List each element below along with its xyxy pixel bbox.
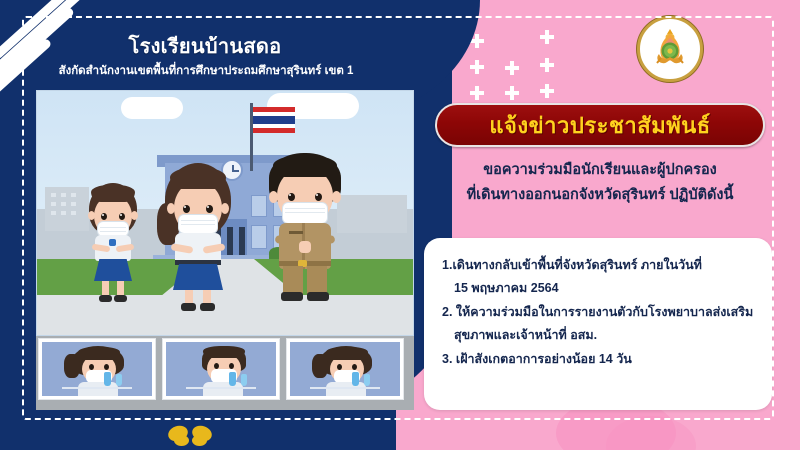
list-item: 1.เดินทางกลับเข้าพื้นที่จังหวัดสุรินทร์ …: [442, 254, 756, 299]
plus-icon: [540, 58, 554, 72]
character-teacher-male: [265, 153, 349, 305]
thumbnail-strip: [36, 336, 414, 410]
list-item: 2. ให้ความร่วมมือในการรายงานตัวกับโรงพยา…: [442, 301, 756, 346]
cloud-icon: [121, 97, 183, 119]
face-mask-icon: [282, 202, 328, 224]
thai-national-flag-icon: [253, 107, 295, 133]
list-item-line2: 15 พฤษภาคม 2564: [442, 277, 756, 300]
thumbnail-handwashing-girl-1[interactable]: [38, 338, 156, 400]
butterfly-icon: [168, 424, 214, 446]
plus-icon: [470, 86, 484, 100]
poster-canvas: โรงเรียนบ้านสดอ สังกัดสำนักงานเขตพื้นที่…: [0, 0, 800, 450]
plus-icon: [470, 60, 484, 74]
announcement-banner: แจ้งข่าวประชาสัมพันธ์: [435, 103, 765, 147]
list-item-number: 2.: [442, 305, 452, 319]
school-illustration: [36, 90, 414, 336]
plus-icon: [505, 61, 519, 75]
school-affiliation-subtitle: สังกัดสำนักงานเขตพื้นที่การศึกษาประถมศึก…: [20, 62, 392, 80]
list-item-number: 3.: [442, 352, 452, 366]
announcement-banner-title: แจ้งข่าวประชาสัมพันธ์: [489, 108, 710, 143]
plus-mark-grid: [470, 30, 580, 110]
character-student-girl-large: [161, 163, 239, 305]
list-item-line2: สุขภาพและเจ้าหน้าที่ อสม.: [442, 324, 756, 347]
thumbnail-handwashing-boy[interactable]: [162, 338, 280, 400]
list-item-line1: ให้ความร่วมมือในการรายงานตัวกับโรงพยาบาล…: [456, 305, 753, 319]
ministry-emblem: [637, 16, 703, 82]
instruction-list-box: 1.เดินทางกลับเข้าพื้นที่จังหวัดสุรินทร์ …: [424, 238, 772, 410]
instruction-list: 1.เดินทางกลับเข้าพื้นที่จังหวัดสุรินทร์ …: [424, 238, 772, 371]
list-item: 3. เฝ้าสังเกตอาการอย่างน้อย 14 วัน: [442, 348, 756, 371]
announcement-subtitle-line1: ขอความร่วมมือนักเรียนและผู้ปกครอง: [420, 158, 780, 183]
list-item-number: 1.: [442, 258, 452, 272]
announcement-subtitle-line2: ที่เดินทางออกนอกจังหวัดสุรินทร์ ปฏิบัติด…: [420, 183, 780, 208]
list-item-line1: เดินทางกลับเข้าพื้นที่จังหวัดสุรินทร์ ภา…: [452, 258, 701, 272]
thai-ministry-of-education-emblem-icon: [637, 16, 703, 82]
plus-icon: [540, 30, 554, 44]
plus-icon: [505, 86, 519, 100]
thumbnail-handwashing-girl-2[interactable]: [286, 338, 404, 400]
face-mask-icon: [178, 214, 218, 234]
announcement-subtitle: ขอความร่วมมือนักเรียนและผู้ปกครอง ที่เดิ…: [420, 158, 780, 208]
list-item-line1: เฝ้าสังเกตอาการอย่างน้อย 14 วัน: [456, 352, 632, 366]
plus-icon: [540, 84, 554, 98]
character-student-girl-small: [83, 183, 143, 305]
school-name-title: โรงเรียนบ้านสดอ: [40, 30, 370, 62]
